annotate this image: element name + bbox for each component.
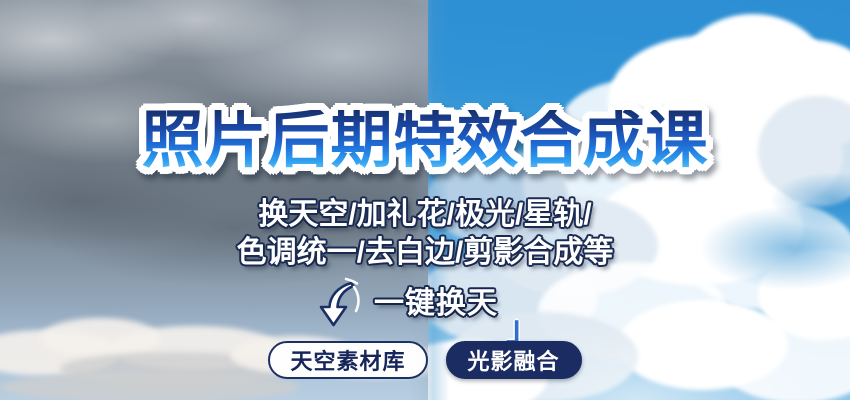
subtitle-line-1: 换天空/加礼花/极光/星轨/	[0, 200, 850, 230]
status-badge-sky-library[interactable]: 天空素材库	[268, 341, 427, 379]
status-badge-light-blend[interactable]: 光影融合	[446, 341, 582, 379]
one-key-sky-swap-label: 一键换天	[374, 289, 498, 319]
curved-down-arrow-icon	[310, 276, 366, 332]
course-promo-banner: 照片后期特效合成课 换天空/加礼花/极光/星轨/ 色调统一/去白边/剪影合成等 …	[0, 0, 850, 400]
banner-content: 照片后期特效合成课 换天空/加礼花/极光/星轨/ 色调统一/去白边/剪影合成等 …	[0, 0, 850, 400]
subtitle-line-2: 色调统一/去白边/剪影合成等	[0, 238, 850, 268]
page-title: 照片后期特效合成课	[0, 110, 850, 172]
one-key-sky-swap-row: 一键换天 」	[0, 276, 850, 332]
feature-badge-group: 天空素材库 光影融合	[0, 341, 850, 379]
